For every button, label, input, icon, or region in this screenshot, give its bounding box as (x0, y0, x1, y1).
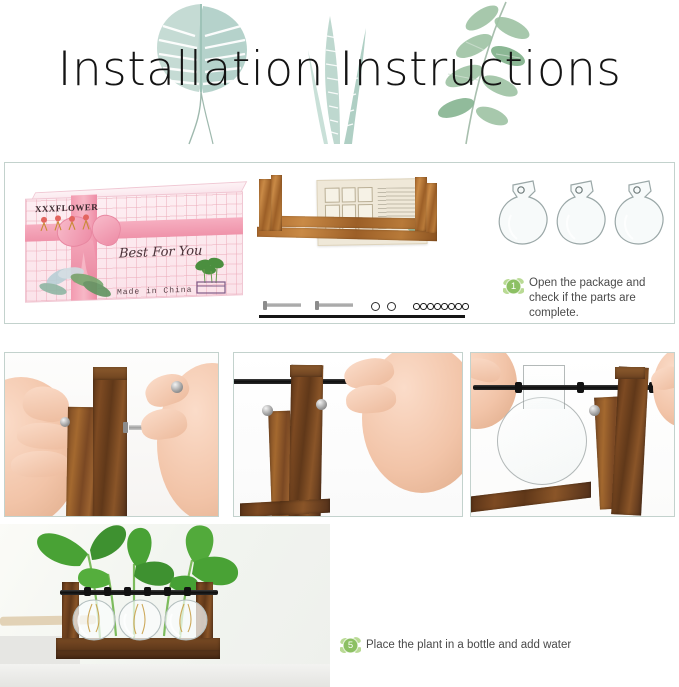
step-4-photo (471, 353, 674, 516)
step-1-badge: 1 (503, 276, 524, 297)
rubber-ring-small (434, 303, 441, 310)
table-front-edge (0, 664, 330, 687)
step-1-text: Open the package and check if the parts … (529, 275, 645, 321)
rubber-ring-small (420, 303, 427, 310)
step-5-number: 5 (340, 635, 361, 656)
wood-plank-top-face (615, 367, 645, 379)
rubber-ring-large (371, 302, 380, 311)
panel-step-1: XXXFLOWER Best For You Made in China (4, 162, 675, 324)
rubber-ring (515, 382, 522, 393)
header: Installation Instructions (0, 0, 679, 155)
rubber-ring-large (387, 302, 396, 311)
screw-head (262, 405, 273, 416)
diagram-cell (358, 187, 373, 203)
panel-step-3: 3 Put the metal rod through the side of … (233, 352, 463, 517)
metal-rod-part (259, 315, 465, 318)
diagram-cell (325, 188, 340, 204)
glass-bottles-with-cuttings (70, 590, 210, 646)
glass-bottle (497, 397, 587, 485)
rubber-ring-small (427, 303, 434, 310)
wood-plank-front (289, 365, 324, 517)
rubber-ring-small (462, 303, 469, 310)
step-3-photo (234, 353, 462, 516)
rubber-ring-small (455, 303, 462, 310)
wood-base-rail (471, 482, 591, 513)
step-1-line: Open the package and (529, 276, 645, 291)
box-plant-logo (187, 257, 233, 297)
step-1-number: 1 (503, 276, 524, 297)
wooden-frame-parts-photo (257, 173, 457, 289)
step-1-line: check if the parts are (529, 291, 645, 306)
step-5-line: Place the plant in a bottle and add wate… (366, 638, 571, 653)
rod-collar (316, 399, 327, 410)
rubber-ring-small (448, 303, 455, 310)
step-1-line: complete. (529, 306, 645, 321)
wood-plank-top-face (93, 367, 127, 380)
frame-post-right-inner (426, 183, 437, 233)
flower-ornament-icon (36, 214, 100, 232)
gift-box-photo: XXXFLOWER Best For You Made in China (19, 177, 249, 307)
frame-post-left-inner (271, 175, 282, 231)
wood-plank-top-face (290, 365, 322, 377)
screw-head (589, 405, 600, 416)
panel-step-2: 2 Connect the wooden frame, insert the s… (4, 352, 219, 517)
wood-plank-front (611, 366, 649, 515)
wood-plank-front (66, 407, 96, 517)
rubber-ring-small (441, 303, 448, 310)
diagram-cell (341, 187, 356, 203)
screw-head-left (60, 417, 70, 427)
step-5-caption: 5 Place the plant in a bottle and add wa… (340, 634, 670, 656)
step-2-photo (5, 353, 218, 516)
wood-plank-back (93, 367, 127, 517)
left-middle-finger (11, 450, 70, 478)
finished-product-photo (0, 524, 330, 687)
rubber-ring-small (413, 303, 420, 310)
installation-instructions-page: Installation Instructions XXXFLOWER (0, 0, 679, 687)
glass-bulbs-photo (493, 171, 668, 271)
panel-step-4: 4 Put each bottle through the metal rod … (470, 352, 675, 517)
screw-head-right (171, 381, 183, 393)
rubber-ring (577, 382, 584, 393)
step-1-caption: 1 Open the package and check if the part… (503, 275, 668, 321)
page-title: Installation Instructions (0, 42, 679, 97)
step-5-text: Place the plant in a bottle and add wate… (366, 637, 571, 653)
stand-base-edge (56, 650, 220, 659)
box-leaf-artwork (37, 259, 115, 299)
step-5-badge: 5 (340, 635, 361, 656)
